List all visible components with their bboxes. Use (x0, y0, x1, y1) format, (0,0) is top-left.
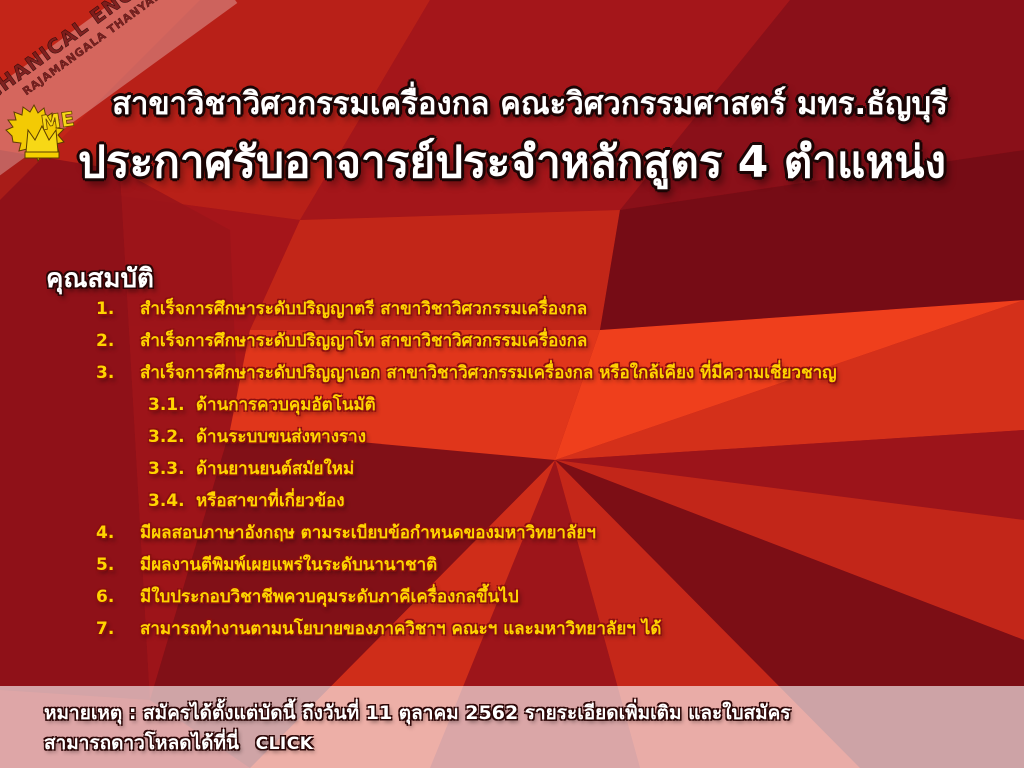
qualification-number: 3.4. (148, 490, 196, 512)
qualification-text: สำเร็จการศึกษาระดับปริญญาตรี สาขาวิชาวิศ… (140, 298, 1006, 320)
page-title: สาขาวิชาวิศวกรรมเครื่องกล คณะวิศวกรรมศาส… (0, 86, 1024, 123)
qualification-subitem: 3.4.หรือสาขาที่เกี่ยวข้อง (96, 490, 1006, 522)
qualification-item: 4.มีผลสอบภาษาอังกฤษ ตามระเบียบข้อกำหนดขอ… (96, 522, 1006, 554)
announcement-title: ประกาศรับอาจารย์ประจำหลักสูตร 4 ตำแหน่ง (0, 137, 1024, 190)
footer-line-2-wrap: สามารถดาวโหลดได้ที่นี่ CLICK (44, 728, 984, 759)
qualification-subitem: 3.3.ด้านยานยนต์สมัยใหม่ (96, 458, 1006, 490)
qualification-text: สำเร็จการศึกษาระดับปริญญาเอก สาขาวิชาวิศ… (140, 362, 1006, 384)
qualification-subitem: 3.1.ด้านการควบคุมอัตโนมัติ (96, 394, 1006, 426)
qualifications-list: 1.สำเร็จการศึกษาระดับปริญญาตรี สาขาวิชาว… (96, 298, 1006, 650)
recruitment-poster: MACHANICAL ENGINEERING RAJAMANGALA THANY… (0, 0, 1024, 768)
qualification-text: สามารถทำงานตามนโยบายของภาควิชาฯ คณะฯ และ… (140, 618, 1006, 640)
qualification-item: 6.มีใบประกอบวิชาชีพควบคุมระดับภาคีเครื่อ… (96, 586, 1006, 618)
qualification-text: หรือสาขาที่เกี่ยวข้อง (196, 490, 1006, 512)
footer-note: หมายเหตุ : สมัครได้ตั้งแต่บัดนี้ ถึงวันท… (44, 698, 984, 759)
footer-line-1: หมายเหตุ : สมัครได้ตั้งแต่บัดนี้ ถึงวันท… (44, 702, 791, 724)
click-link[interactable]: CLICK (256, 729, 314, 759)
qualification-number: 1. (96, 298, 140, 320)
qualification-text: มีผลงานตีพิมพ์เผยแพร่ในระดับนานาชาติ (140, 554, 1006, 576)
qualification-text: มีผลสอบภาษาอังกฤษ ตามระเบียบข้อกำหนดของม… (140, 522, 1006, 544)
qualification-text: สำเร็จการศึกษาระดับปริญญาโท สาขาวิชาวิศว… (140, 330, 1006, 352)
qualification-number: 3.3. (148, 458, 196, 480)
qualification-number: 5. (96, 554, 140, 576)
qualification-item: 7.สามารถทำงานตามนโยบายของภาควิชาฯ คณะฯ แ… (96, 618, 1006, 650)
qualification-number: 3.2. (148, 426, 196, 448)
qualification-text: มีใบประกอบวิชาชีพควบคุมระดับภาคีเครื่องก… (140, 586, 1006, 608)
qualification-number: 7. (96, 618, 140, 640)
qualification-item: 1.สำเร็จการศึกษาระดับปริญญาตรี สาขาวิชาว… (96, 298, 1006, 330)
qualification-number: 3.1. (148, 394, 196, 416)
qualification-subitem: 3.2.ด้านระบบขนส่งทางราง (96, 426, 1006, 458)
qualification-number: 3. (96, 362, 140, 384)
footer-line-2: สามารถดาวโหลดได้ที่นี่ (44, 732, 239, 754)
qualification-text: ด้านการควบคุมอัตโนมัติ (196, 394, 1006, 416)
qualification-text: ด้านยานยนต์สมัยใหม่ (196, 458, 1006, 480)
qualification-item: 3.สำเร็จการศึกษาระดับปริญญาเอก สาขาวิชาว… (96, 362, 1006, 394)
qualification-number: 2. (96, 330, 140, 352)
qualification-number: 6. (96, 586, 140, 608)
qualifications-heading: คุณสมบัติ (46, 258, 154, 299)
poster-headings: สาขาวิชาวิศวกรรมเครื่องกล คณะวิศวกรรมศาส… (0, 86, 1024, 189)
qualification-text: ด้านระบบขนส่งทางราง (196, 426, 1006, 448)
qualification-item: 5.มีผลงานตีพิมพ์เผยแพร่ในระดับนานาชาติ (96, 554, 1006, 586)
qualification-number: 4. (96, 522, 140, 544)
qualification-item: 2.สำเร็จการศึกษาระดับปริญญาโท สาขาวิชาวิ… (96, 330, 1006, 362)
